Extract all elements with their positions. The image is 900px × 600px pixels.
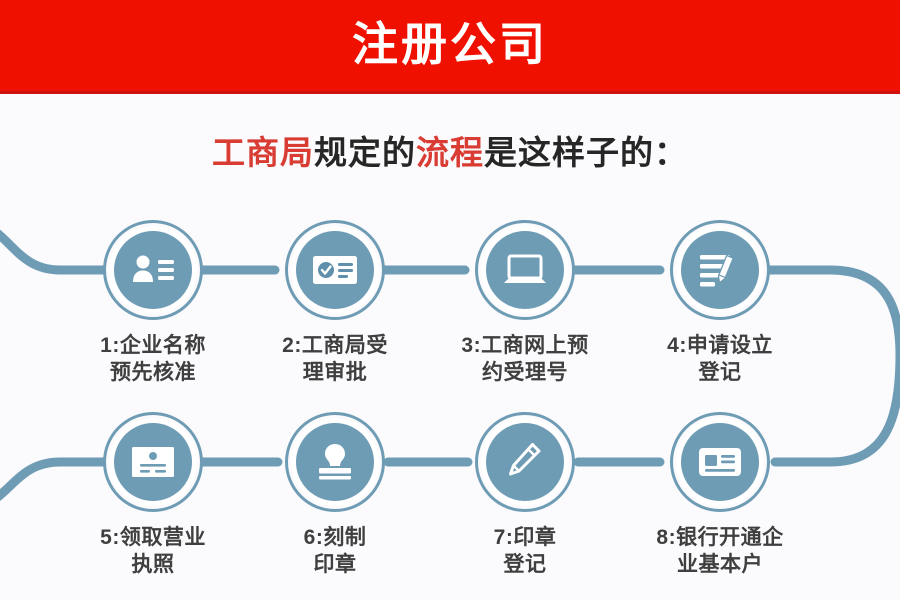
flow-step-1-circle[interactable] [103,220,203,320]
flow-step-4[interactable]: 4:申请设立 登记 [645,220,795,387]
subtitle-segment-process: 流程 [416,134,484,171]
flow-step-1-label: 1:企业名称 预先核准 [78,332,228,387]
business-license-icon [114,423,192,501]
flow-diagram: 1:企业名称 预先核准 2:工商局受 理审批 [0,190,900,600]
rubber-stamp-icon [296,423,374,501]
subtitle-segment-tail: 是这样子的： [484,134,688,171]
flow-step-1[interactable]: 1:企业名称 预先核准 [78,220,228,387]
bank-card-icon [681,423,759,501]
flow-step-8-circle[interactable] [670,412,770,512]
flow-step-8[interactable]: 8:银行开通企 业基本户 [645,412,795,579]
flow-step-5-label: 5:领取营业 执照 [78,524,228,579]
header-banner: 注册公司 [0,0,900,94]
subtitle-segment-bureau: 工商局 [212,134,314,171]
flow-step-3-circle[interactable] [475,220,575,320]
label-line-2: 执照 [78,551,228,578]
flow-step-2[interactable]: 2:工商局受 理审批 [260,220,410,387]
label-line-1: 8:银行开通企 [645,524,795,551]
label-line-1: 4:申请设立 [645,332,795,359]
pencil-icon [486,423,564,501]
flow-step-6-label: 6:刻制 印章 [260,524,410,579]
laptop-icon [486,231,564,309]
flow-step-3[interactable]: 3:工商网上预 约受理号 [450,220,600,387]
approved-card-check-icon [296,231,374,309]
flow-step-8-label: 8:银行开通企 业基本户 [645,524,795,579]
flow-step-4-label: 4:申请设立 登记 [645,332,795,387]
label-line-2: 登记 [645,359,795,386]
subtitle-segment-regulated: 规定的 [314,134,416,171]
label-line-2: 预先核准 [78,359,228,386]
flow-step-7[interactable]: 7:印章 登记 [450,412,600,579]
label-line-1: 2:工商局受 [260,332,410,359]
flow-step-2-circle[interactable] [285,220,385,320]
flow-step-3-label: 3:工商网上预 约受理号 [450,332,600,387]
id-card-person-icon [114,231,192,309]
flow-step-7-circle[interactable] [475,412,575,512]
label-line-2: 业基本户 [645,551,795,578]
page-title: 注册公司 [352,21,548,71]
label-line-1: 3:工商网上预 [450,332,600,359]
label-line-1: 1:企业名称 [78,332,228,359]
flow-step-5[interactable]: 5:领取营业 执照 [78,412,228,579]
flow-step-6-circle[interactable] [285,412,385,512]
label-line-1: 5:领取营业 [78,524,228,551]
flow-step-5-circle[interactable] [103,412,203,512]
flow-step-7-label: 7:印章 登记 [450,524,600,579]
label-line-1: 7:印章 [450,524,600,551]
subtitle: 工商局规定的流程是这样子的： [0,126,900,174]
flow-step-4-circle[interactable] [670,220,770,320]
label-line-2: 理审批 [260,359,410,386]
flow-step-6[interactable]: 6:刻制 印章 [260,412,410,579]
flow-step-2-label: 2:工商局受 理审批 [260,332,410,387]
label-line-2: 约受理号 [450,359,600,386]
label-line-2: 印章 [260,551,410,578]
label-line-2: 登记 [450,551,600,578]
label-line-1: 6:刻制 [260,524,410,551]
document-pencil-icon [681,231,759,309]
